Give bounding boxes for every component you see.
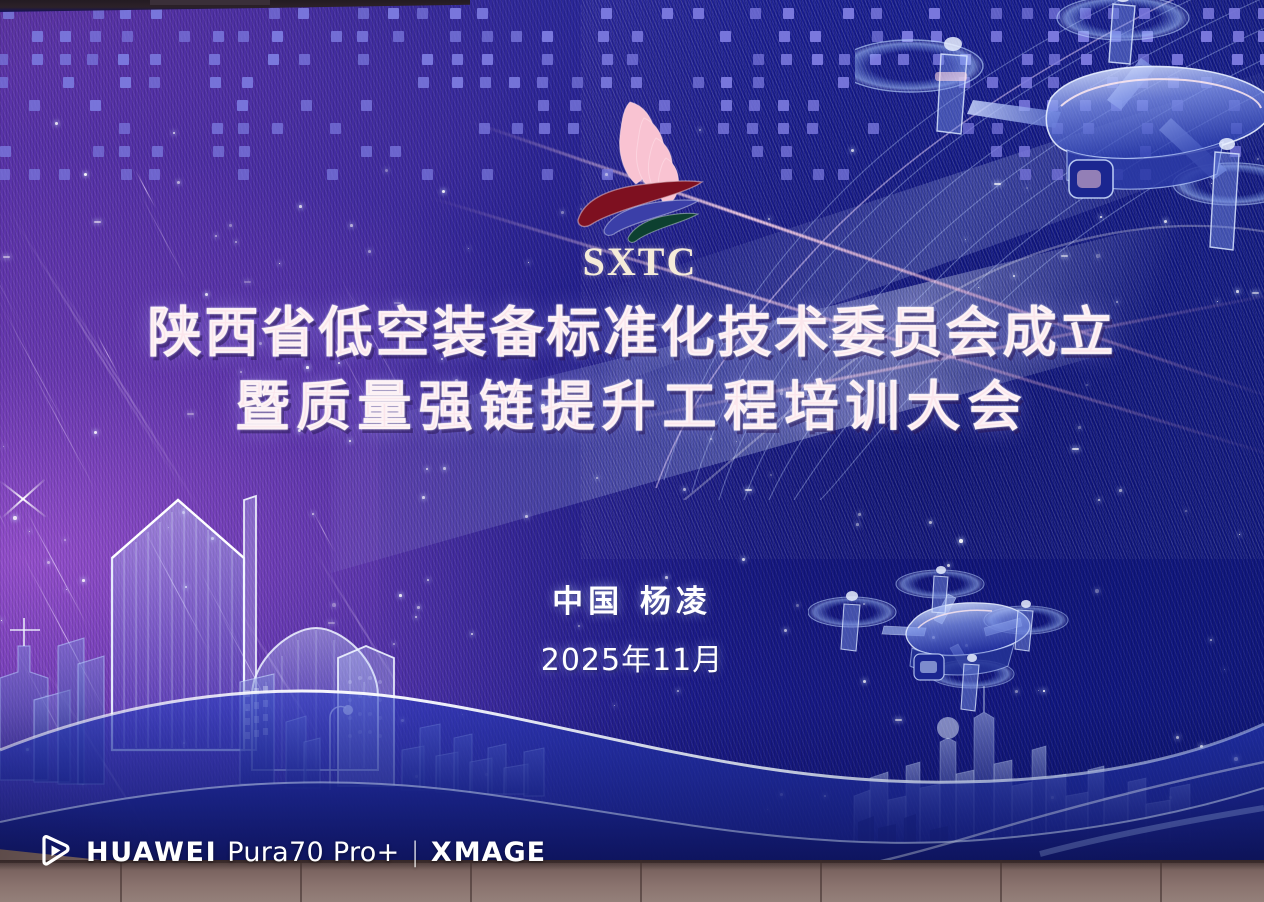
- page-title: 陕西省低空装备标准化技术委员会成立 暨质量强链提升工程培训大会: [0, 296, 1264, 444]
- xmage-rest: MAGE: [454, 837, 546, 868]
- floor-seam: [640, 860, 642, 902]
- backdrop-top-edge-dark: [150, 0, 270, 5]
- watermark-text: HUAWEI Pura70 Pro+ | X MAGE: [86, 837, 546, 868]
- watermark-model: Pura70 Pro+: [227, 837, 399, 868]
- watermark-xmage: X MAGE: [431, 837, 546, 868]
- stage-backdrop-photo: SXTC: [0, 0, 1264, 902]
- floor-seam: [820, 860, 822, 902]
- event-subtitle: 中国 杨凌 2025年11月: [0, 576, 1264, 679]
- title-line-1: 陕西省低空装备标准化技术委员会成立: [0, 296, 1264, 370]
- xmage-x-glyph: X: [431, 837, 453, 868]
- event-location: 中国 杨凌: [0, 576, 1264, 621]
- huawei-play-petal-icon: [36, 834, 72, 870]
- floor-seam: [1160, 860, 1162, 902]
- photo-vignette: [0, 0, 1264, 902]
- huawei-watermark: HUAWEI Pura70 Pro+ | X MAGE: [36, 834, 546, 870]
- floor-seam: [1000, 860, 1002, 902]
- event-date: 2025年11月: [0, 635, 1264, 679]
- watermark-separator: |: [411, 837, 420, 868]
- watermark-brand: HUAWEI: [86, 837, 217, 868]
- title-line-2: 暨质量强链提升工程培训大会: [0, 370, 1264, 444]
